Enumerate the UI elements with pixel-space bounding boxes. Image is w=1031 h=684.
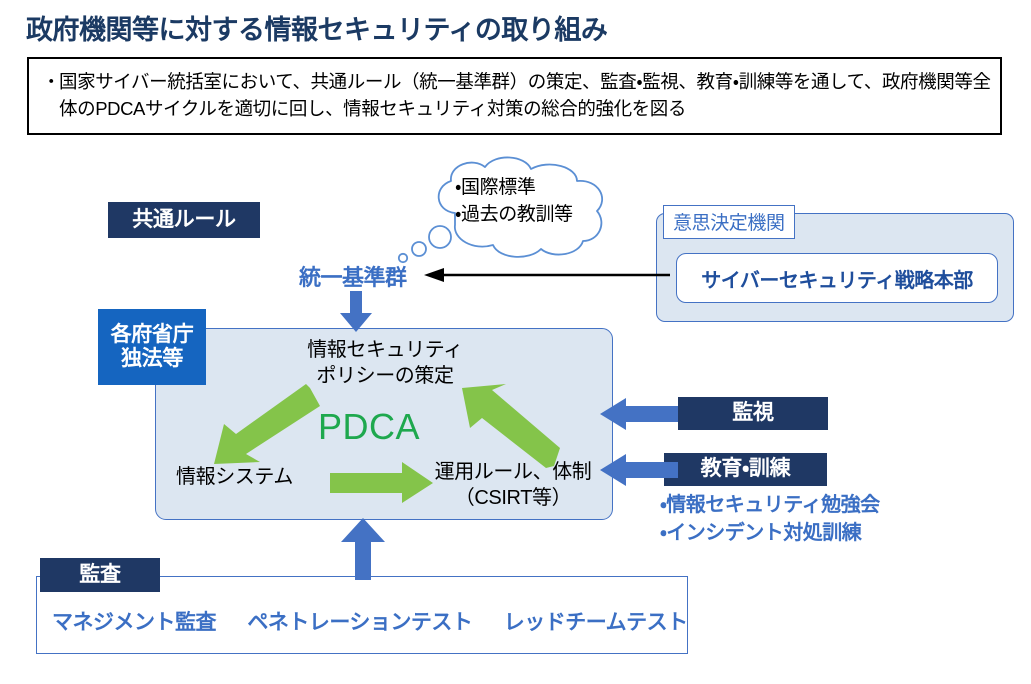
education-bullet-list: ・情報セキュリティ勉強会 ・インシデント対処訓練: [660, 492, 880, 547]
label-ministries-and-agencies: 各府省庁 独法等: [98, 309, 206, 385]
blue-arrow-monitoring-icon: [600, 396, 678, 432]
cloud-text: ・国際標準 ・過去の教訓等: [455, 175, 573, 229]
audit-item: ペネトレーションテスト: [247, 611, 472, 634]
lead-paragraph-box: ・ 国家サイバー統括室において、共通ルール（統一基準群）の策定、監査・監視、教育…: [27, 57, 1002, 135]
lead-paragraph: ・ 国家サイバー統括室において、共通ルール（統一基準群）の策定、監査・監視、教育…: [42, 68, 992, 123]
pdca-ops-line1: 運用ルール、体制: [416, 459, 610, 485]
education-bullet-item: ・インシデント対処訓練: [660, 520, 880, 548]
cloud-text-line2: ・過去の教訓等: [455, 202, 573, 229]
label-unified-standards: 統一基準群: [299, 260, 407, 292]
blue-arrow-audit-up-icon: [340, 518, 386, 580]
label-monitoring-text: 監視: [732, 401, 773, 426]
label-education-training-text: 教育・訓練: [701, 457, 791, 482]
pdca-center-label: PDCA: [318, 406, 420, 448]
audit-item: マネジメント監査: [52, 611, 216, 634]
cloud-text-line1: ・国際標準: [455, 175, 573, 202]
green-arrow-ops-to-policy-icon: [452, 384, 562, 468]
blue-arrow-education-icon: [600, 452, 678, 488]
lead-paragraph-text: 国家サイバー統括室において、共通ルール（統一基準群）の策定、監査・監視、教育・訓…: [42, 68, 992, 123]
education-bullet-item: ・情報セキュリティ勉強会: [660, 492, 880, 520]
cybersecurity-strategy-hq-label: サイバーセキュリティ戦略本部: [701, 264, 972, 293]
audit-item-list: マネジメント監査 ペネトレーションテスト レッドチームテスト: [52, 606, 676, 636]
cybersecurity-strategy-hq-box: サイバーセキュリティ戦略本部: [676, 253, 998, 303]
pdca-ops-line2: （CSIRT等）: [416, 485, 610, 511]
lead-bullet-icon: ・: [42, 68, 60, 95]
pdca-policy-label: 情報セキュリティ ポリシーの策定: [280, 337, 490, 390]
green-arrow-policy-to-system-icon: [202, 384, 322, 466]
pdca-policy-line2: ポリシーの策定: [280, 363, 490, 389]
page-title: 政府機関等に対する情報セキュリティの取り組み: [26, 8, 607, 47]
audit-item: レッドチームテスト: [504, 611, 688, 634]
decision-body-panel-title: 意思決定機関: [663, 205, 795, 239]
arrow-hq-to-standards-icon: [424, 268, 670, 282]
label-audit-text: 監査: [79, 563, 120, 588]
label-ministries-line2: 独法等: [121, 347, 183, 371]
slide-canvas: 政府機関等に対する情報セキュリティの取り組み ・ 国家サイバー統括室において、共…: [0, 0, 1031, 684]
pdca-operations-label: 運用ルール、体制 （CSIRT等）: [416, 459, 610, 512]
label-ministries-line1: 各府省庁: [111, 323, 194, 347]
arrow-standards-down-icon: [339, 291, 373, 333]
label-monitoring: 監視: [678, 397, 828, 430]
label-common-rules: 共通ルール: [108, 202, 260, 238]
label-common-rules-text: 共通ルール: [132, 208, 236, 233]
label-audit: 監査: [40, 558, 160, 592]
pdca-information-system-label: 情報システム: [176, 460, 293, 489]
label-education-training: 教育・訓練: [664, 453, 827, 486]
pdca-policy-line1: 情報セキュリティ: [280, 337, 490, 363]
